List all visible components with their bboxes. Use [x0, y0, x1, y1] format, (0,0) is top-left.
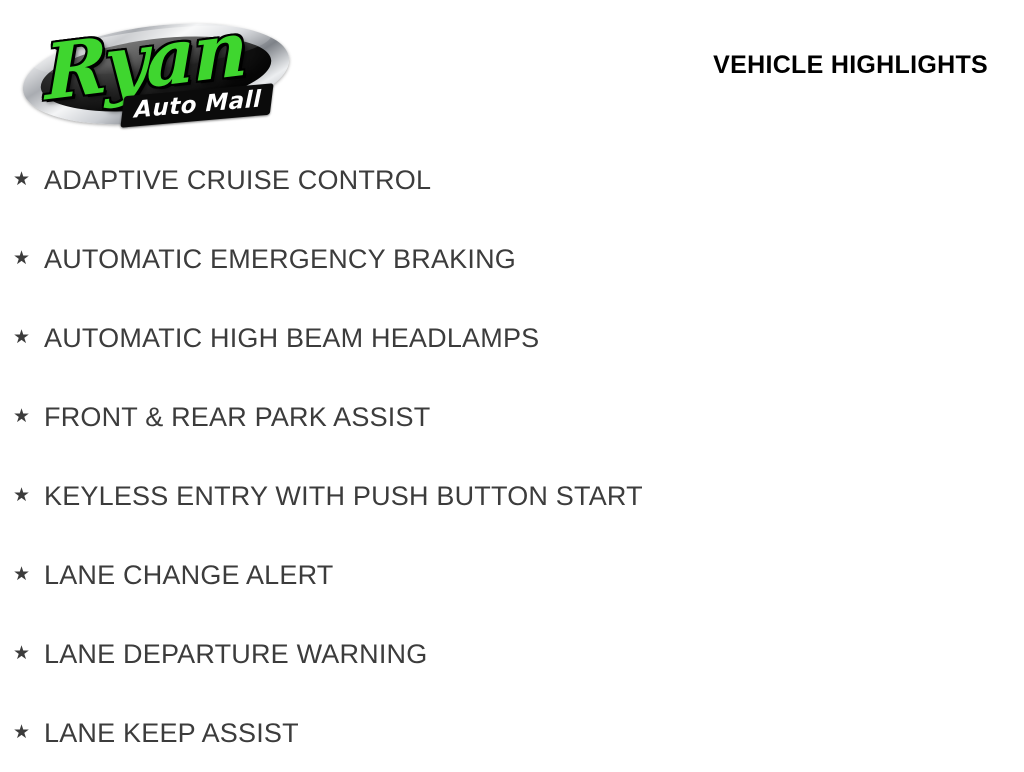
star-icon: ★: [13, 407, 44, 426]
star-icon: ★: [13, 328, 44, 347]
star-icon: ★: [13, 486, 44, 505]
star-icon: ★: [13, 723, 44, 742]
list-item: ★AUTOMATIC HIGH BEAM HEADLAMPS: [0, 298, 1024, 377]
list-item: ★LANE KEEP ASSIST: [0, 693, 1024, 772]
highlight-label: FRONT & REAR PARK ASSIST: [44, 401, 430, 433]
star-icon: ★: [13, 170, 44, 189]
list-item: ★ADAPTIVE CRUISE CONTROL: [0, 140, 1024, 219]
highlight-label: LANE DEPARTURE WARNING: [44, 638, 427, 670]
list-item: ★FRONT & REAR PARK ASSIST: [0, 377, 1024, 456]
list-item: ★LANE DEPARTURE WARNING: [0, 614, 1024, 693]
highlight-label: KEYLESS ENTRY WITH PUSH BUTTON START: [44, 480, 643, 512]
list-item: ★KEYLESS ENTRY WITH PUSH BUTTON START: [0, 456, 1024, 535]
star-icon: ★: [13, 644, 44, 663]
highlight-label: ADAPTIVE CRUISE CONTROL: [44, 164, 431, 196]
highlight-label: LANE CHANGE ALERT: [44, 559, 334, 591]
vehicle-highlights-page: Ryan Auto Mall VEHICLE HIGHLIGHTS ★ADAPT…: [0, 0, 1024, 768]
highlight-label: AUTOMATIC HIGH BEAM HEADLAMPS: [44, 322, 539, 354]
star-icon: ★: [13, 565, 44, 584]
list-item: ★AUTOMATIC EMERGENCY BRAKING: [0, 219, 1024, 298]
page-title: VEHICLE HIGHLIGHTS: [713, 50, 988, 80]
ryan-auto-mall-logo[interactable]: Ryan Auto Mall: [18, 10, 296, 124]
highlight-label: AUTOMATIC EMERGENCY BRAKING: [44, 243, 516, 275]
list-item: ★LANE CHANGE ALERT: [0, 535, 1024, 614]
highlight-label: LANE KEEP ASSIST: [44, 717, 299, 749]
page-header: Ryan Auto Mall VEHICLE HIGHLIGHTS: [0, 0, 1024, 140]
star-icon: ★: [13, 249, 44, 268]
vehicle-highlights-list: ★ADAPTIVE CRUISE CONTROL★AUTOMATIC EMERG…: [0, 140, 1024, 772]
